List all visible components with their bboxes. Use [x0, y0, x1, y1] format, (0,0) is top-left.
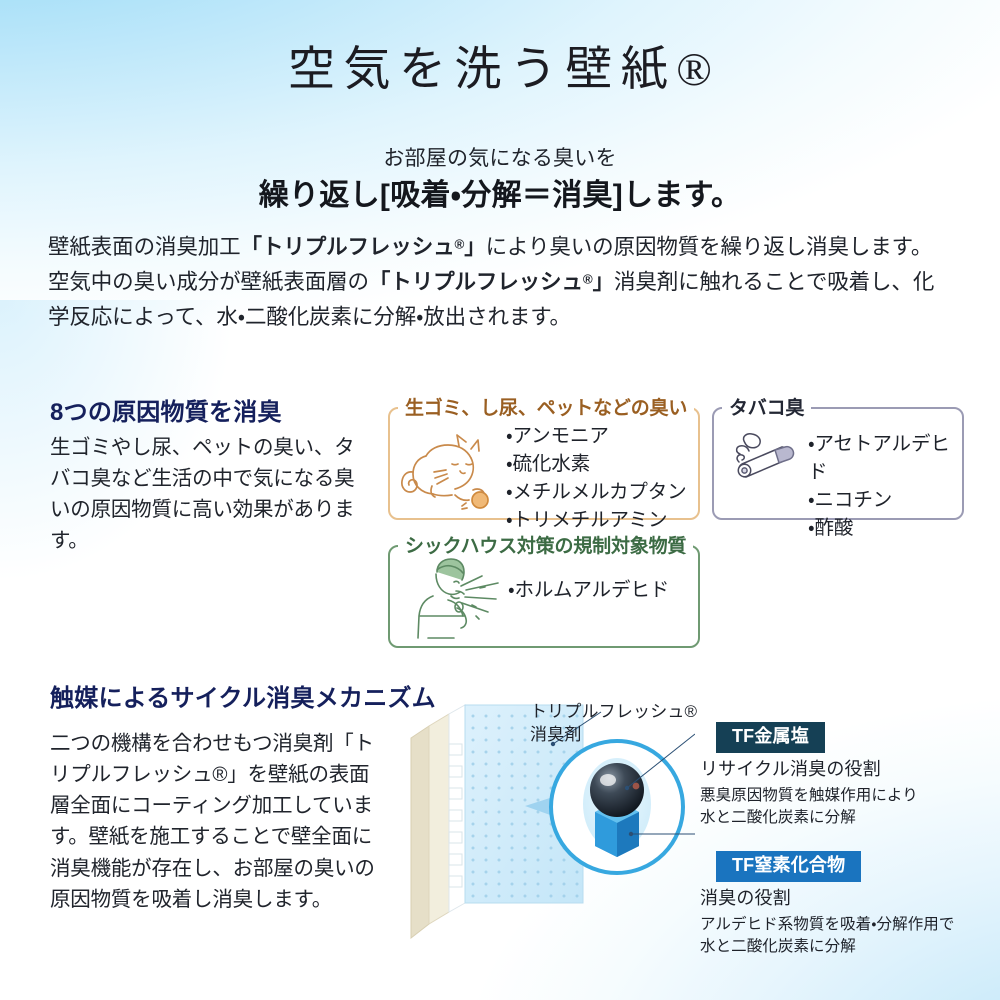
- list-item: ・酢酸: [808, 514, 964, 542]
- tf-metal-salt-sphere-icon: [590, 763, 644, 817]
- odor-box-kitchen: 生ゴミ、し尿、ペットなどの臭い ・アンモニア ・硫化水素: [388, 396, 700, 520]
- brand-name-2: トリプルフレッシュ: [390, 270, 583, 294]
- callout-detail-line1: 悪臭原因物質を触媒作用により: [700, 785, 1000, 807]
- odor-box-legend: 生ゴミ、し尿、ペットなどの臭い: [405, 399, 687, 418]
- diagram-callout-label: トリプルフレッシュ® 消臭剤: [530, 700, 720, 747]
- callout-detail: アルデヒド系物質を吸着・分解作用で 水と二酸化炭素に分解: [700, 914, 1000, 958]
- list-item: ・ニコチン: [808, 486, 964, 514]
- list-item: ・トリメチルアミン: [506, 506, 687, 534]
- callout-role: 消臭の役割: [700, 886, 1000, 911]
- odor-box-item-list: ・アンモニア ・硫化水素 ・メチルメルカプタン ・トリメチルアミン: [506, 422, 687, 534]
- section-a-heading: 8つの原因物質を消臭: [50, 392, 282, 427]
- odor-box-item-list: ・アセトアルデヒド ・ニコチン ・酢酸: [808, 430, 964, 542]
- section-b-description: 二つの機構を合わせもつ消臭剤「トリプルフレッシュ®」を壁紙の表面層全面にコーティ…: [50, 728, 380, 915]
- cat-playing-icon: [396, 426, 504, 510]
- odor-box-item-list: ・ホルムアルデヒド: [508, 576, 669, 604]
- odor-box-legend: タバコ臭: [729, 399, 804, 418]
- callout-detail: 悪臭原因物質を触媒作用により 水と二酸化炭素に分解: [700, 785, 1000, 829]
- intro-text-1: 壁紙表面の消臭加工: [48, 235, 241, 259]
- brand-name-1: トリプルフレッシュ: [262, 235, 455, 259]
- list-item: ・ホルムアルデヒド: [508, 576, 669, 604]
- callout-detail-line2: 水と二酸化炭素に分解: [700, 807, 1000, 829]
- list-item: ・アセトアルデヒド: [808, 430, 964, 486]
- list-item: ・硫化水素: [506, 450, 687, 478]
- diagram-callout-label-line1: トリプルフレッシュ®: [530, 700, 720, 723]
- cigarette-smoke-icon: [720, 430, 808, 500]
- page-title: 空気を洗う壁紙®: [0, 44, 1000, 97]
- callout-detail-line2: 水と二酸化炭素に分解: [700, 936, 1000, 958]
- callout-description-nitro: 消臭の役割 アルデヒド系物質を吸着・分解作用で 水と二酸化炭素に分解: [700, 886, 1000, 958]
- quote-close-2: 」: [593, 270, 614, 294]
- odor-box-legend-wrap: 生ゴミ、し尿、ペットなどの臭い: [398, 396, 694, 420]
- odor-box-sickhouse: シックハウス対策の規制対象物質 ・ホルムアルデヒド: [388, 534, 700, 648]
- status-badge-tf-metal-salt: TF金属塩: [716, 722, 825, 753]
- magnified-circle-icon: [551, 741, 683, 873]
- section-b-heading: 触媒によるサイクル消臭メカニズム: [50, 678, 436, 713]
- sneezing-person-icon: [410, 550, 506, 640]
- diagram-callout-label-line2: 消臭剤: [530, 723, 720, 746]
- quote-open-1: 「: [241, 235, 262, 259]
- status-badge-tf-nitrogen-compound: TF窒素化合物: [716, 851, 861, 882]
- registered-mark-1: ®: [455, 236, 465, 251]
- list-item: ・メチルメルカプタン: [506, 478, 687, 506]
- infographic-page: 空気を洗う壁紙® お部屋の気になる臭いを 繰り返し[吸着・分解＝消臭]します。 …: [0, 0, 1000, 1000]
- odor-box-legend-wrap: タバコ臭: [722, 396, 811, 420]
- registered-mark-2: ®: [583, 271, 593, 286]
- quote-open-2: 「: [369, 270, 390, 294]
- subtitle-lead: お部屋の気になる臭いを: [0, 142, 1000, 172]
- list-item: ・アンモニア: [506, 422, 687, 450]
- subtitle-main: 繰り返し[吸着・分解＝消臭]します。: [0, 170, 1000, 214]
- quote-close-1: 」: [464, 235, 485, 259]
- callout-description-metal: リサイクル消臭の役割 悪臭原因物質を触媒作用により 水と二酸化炭素に分解: [700, 757, 1000, 829]
- odor-box-tobacco: タバコ臭 ・アセトアルデヒド ・ニコチン ・酢酸: [712, 396, 964, 520]
- callout-role: リサイクル消臭の役割: [700, 757, 1000, 782]
- intro-brand-1: 「トリプルフレッシュ®」: [241, 235, 486, 259]
- intro-brand-2: 「トリプルフレッシュ®」: [369, 270, 614, 294]
- intro-paragraph: 壁紙表面の消臭加工「トリプルフレッシュ®」により臭いの原因物質を繰り返し消臭しま…: [48, 230, 948, 334]
- callout-detail-line1: アルデヒド系物質を吸着・分解作用で: [700, 914, 1000, 936]
- section-a-description: 生ゴミやし尿、ペットの臭い、タバコ臭など生活の中で気になる臭いの原因物質に高い効…: [50, 432, 360, 557]
